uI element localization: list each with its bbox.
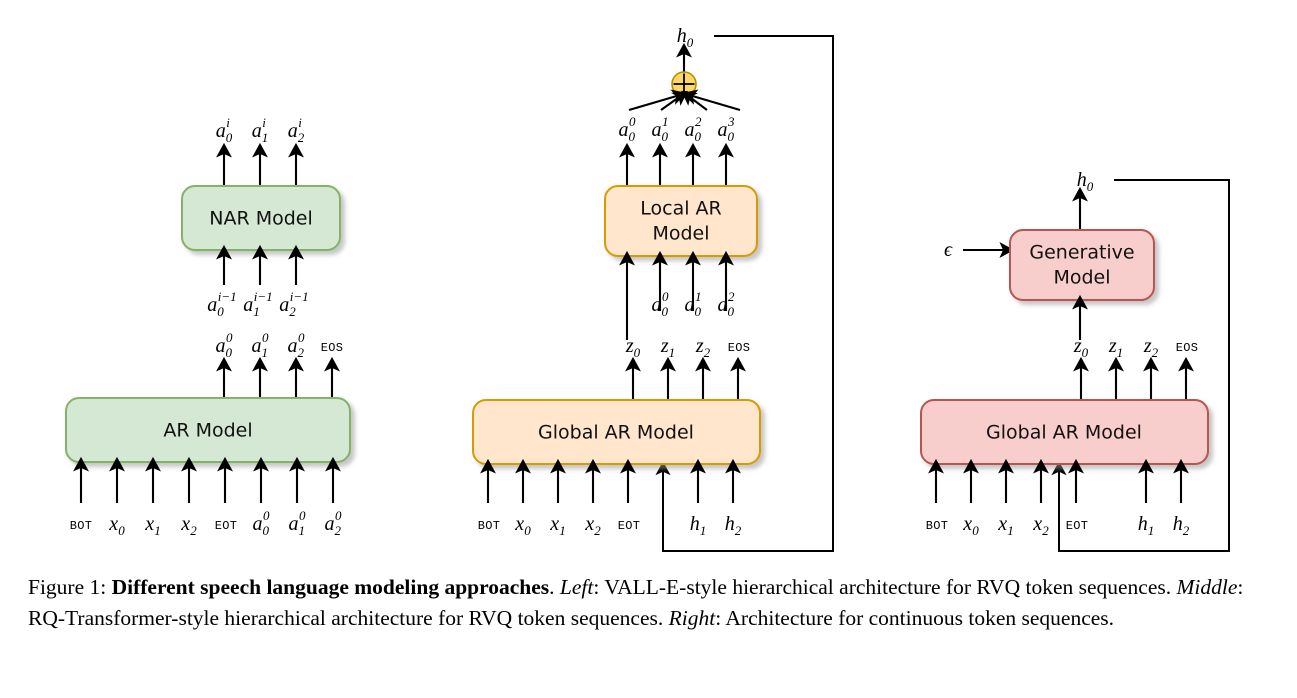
ar-input-arrows <box>81 464 333 503</box>
label-a1i: a1i <box>252 115 269 145</box>
ar-output-labels: a00 a10 a20 EOS <box>216 330 344 360</box>
global-ar-input-arrows-middle <box>488 466 733 503</box>
label-h2-m: h2 <box>725 513 742 538</box>
caption-em-middle: Middle <box>1177 575 1238 599</box>
label-z2-r: z2 <box>1143 335 1159 360</box>
label-eot: EOT <box>215 519 238 533</box>
caption-text-right: : Architecture for continuous token sequ… <box>715 606 1114 630</box>
global-ar-input-labels-right: BOT x0 x1 x2 EOT h1 h2 <box>926 513 1190 538</box>
label-z1-r: z1 <box>1108 335 1123 360</box>
nar-input-arrows <box>224 252 296 285</box>
nar-model-label: NAR Model <box>209 208 313 230</box>
label-x2-r: x2 <box>1032 513 1049 538</box>
nar-input-labels: a0i−1 a1i−1 a2i−1 <box>207 289 308 319</box>
architecture-diagram: a0i a1i a2i NAR Model a0i−1 a1i−1 a2i−1 <box>0 0 1297 570</box>
label-m-a00: a00 <box>619 114 637 144</box>
label-a2i: a2i <box>288 115 305 145</box>
label-m-a03: a03 <box>718 114 736 144</box>
ar-output-arrows <box>224 364 332 398</box>
label-in-a10: a10 <box>289 508 307 538</box>
label-bot-m: BOT <box>478 519 501 533</box>
label-eos-r: EOS <box>1176 341 1199 355</box>
ar-model-box[interactable]: AR Model <box>66 398 350 462</box>
caption-text-left: : VALL-E-style hierarchical architecture… <box>593 575 1176 599</box>
label-epsilon: ϵ <box>944 239 953 261</box>
label-mi-a00: a00 <box>652 289 670 319</box>
nar-output-labels: a0i a1i a2i <box>216 115 305 145</box>
label-bot-r: BOT <box>926 519 949 533</box>
label-a10: a10 <box>252 330 270 360</box>
label-m-a01: a01 <box>652 114 669 144</box>
label-x1-m: x1 <box>549 513 565 538</box>
caption-em-right: Right <box>669 606 716 630</box>
global-ar-model-box-right[interactable]: Global AR Model <box>921 400 1208 464</box>
label-h2-r: h2 <box>1173 513 1190 538</box>
label-z1-m: z1 <box>660 335 675 360</box>
label-eot-m: EOT <box>618 519 641 533</box>
global-ar-model-box-middle[interactable]: Global AR Model <box>473 400 760 464</box>
generative-model-box[interactable]: Generative Model <box>1010 230 1154 300</box>
global-ar-output-arrows-middle <box>633 364 738 400</box>
local-ar-label-line2: Model <box>652 223 709 245</box>
label-z2-m: z2 <box>695 335 711 360</box>
label-x2-m: x2 <box>584 513 601 538</box>
global-ar-label-right: Global AR Model <box>986 422 1142 444</box>
local-ar-input-labels: a00 a01 a02 <box>652 289 736 319</box>
label-bot: BOT <box>70 519 93 533</box>
label-x0-r: x0 <box>962 513 979 538</box>
label-x0: x0 <box>108 513 125 538</box>
figure-caption: Figure 1: Different speech language mode… <box>28 572 1273 633</box>
label-x0-m: x0 <box>514 513 531 538</box>
caption-em-left: Left <box>560 575 593 599</box>
label-a0i-1: a0i−1 <box>207 289 236 319</box>
generative-label-line1: Generative <box>1029 242 1134 264</box>
global-ar-output-labels-middle: z0 z1 z2 EOS <box>625 335 750 360</box>
label-z0-r: z0 <box>1073 335 1089 360</box>
middle-panel-group: h0 a00 a01 a02 a03 <box>473 25 833 551</box>
ar-input-labels: BOT x0 x1 x2 EOT a00 a10 a20 <box>70 508 342 538</box>
ar-model-label: AR Model <box>163 420 252 442</box>
label-h1-m: h1 <box>690 513 707 538</box>
label-h0-right: h0 <box>1077 169 1094 194</box>
local-ar-input-arrows <box>627 258 726 340</box>
local-ar-label-line1: Local AR <box>640 198 721 220</box>
label-a00: a00 <box>216 330 234 360</box>
figure-container: a0i a1i a2i NAR Model a0i−1 a1i−1 a2i−1 <box>0 0 1297 698</box>
left-panel-group: a0i a1i a2i NAR Model a0i−1 a1i−1 a2i−1 <box>66 115 350 538</box>
label-eot-r: EOT <box>1066 519 1089 533</box>
label-in-a00: a00 <box>253 508 271 538</box>
label-x1: x1 <box>144 513 160 538</box>
label-x2: x2 <box>180 513 197 538</box>
sum-node-middle <box>672 72 696 96</box>
nar-model-box[interactable]: NAR Model <box>182 186 340 250</box>
generative-label-line2: Model <box>1053 267 1110 289</box>
global-ar-label-middle: Global AR Model <box>538 422 694 444</box>
label-eos-m: EOS <box>728 341 751 355</box>
label-mi-a01: a01 <box>685 289 702 319</box>
label-z0-m: z0 <box>625 335 641 360</box>
label-in-a20: a20 <box>325 508 343 538</box>
label-m-a02: a02 <box>685 114 703 144</box>
label-x1-r: x1 <box>997 513 1013 538</box>
label-h1-r: h1 <box>1138 513 1155 538</box>
local-ar-model-box[interactable]: Local AR Model <box>605 186 757 256</box>
nar-output-arrows <box>224 150 296 186</box>
sum-input-lines <box>629 95 740 110</box>
global-ar-input-labels-middle: BOT x0 x1 x2 EOT h1 h2 <box>478 513 742 538</box>
global-ar-output-arrows-right <box>1081 364 1186 400</box>
label-h0-middle: h0 <box>677 25 694 50</box>
local-ar-output-labels: a00 a01 a02 a03 <box>619 114 736 144</box>
caption-prefix: Figure 1: <box>28 575 106 599</box>
label-eos: EOS <box>321 341 344 355</box>
right-panel-group: h0 ϵ Generative Model z0 z1 z2 EOS <box>921 169 1229 551</box>
label-mi-a02: a02 <box>718 289 736 319</box>
global-ar-output-labels-right: z0 z1 z2 EOS <box>1073 335 1198 360</box>
label-a2i-1: a2i−1 <box>279 289 308 319</box>
local-ar-output-arrows <box>627 150 726 186</box>
label-a1i-1: a1i−1 <box>243 289 272 319</box>
caption-bold-title: Different speech language modeling appro… <box>112 575 550 599</box>
label-a0i: a0i <box>216 115 233 145</box>
label-a20: a20 <box>288 330 306 360</box>
caption-sep-1: . <box>549 575 560 599</box>
